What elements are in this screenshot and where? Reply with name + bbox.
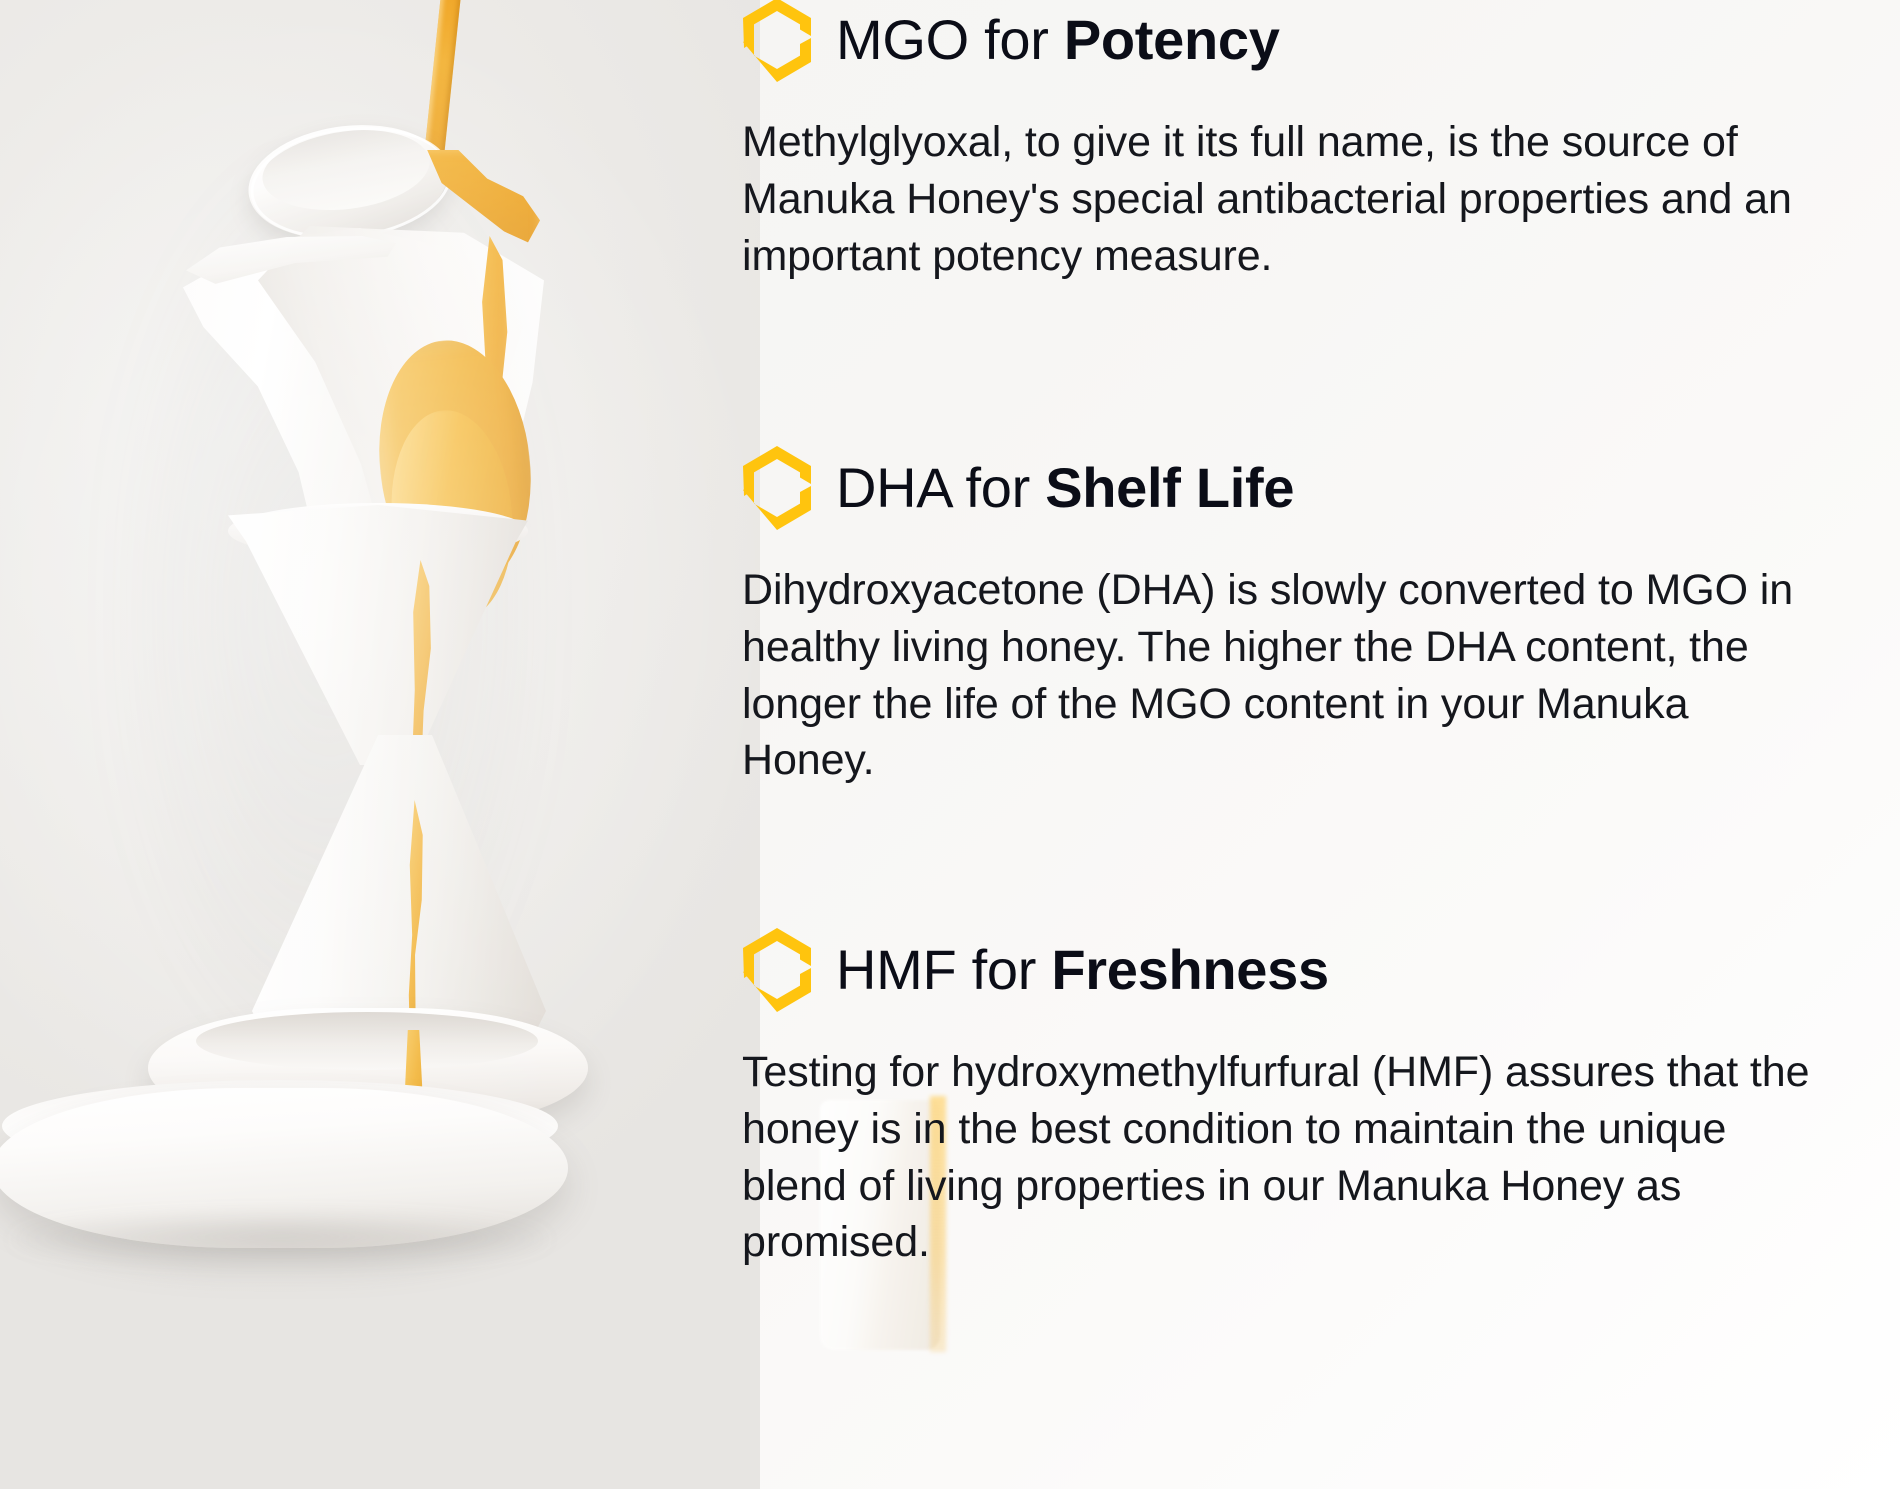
hexagon-outline-icon: [740, 444, 814, 532]
section-hmf-heading-plain: HMF for: [836, 938, 1051, 1001]
hexagon-outline-icon: [740, 0, 814, 84]
section-dha-heading: DHA for Shelf Life: [836, 460, 1294, 516]
section-hmf: HMF for Freshness Testing for hydroxymet…: [740, 922, 1830, 1271]
manuka-honey-photo: [0, 0, 760, 1489]
section-mgo-heading-row: MGO for Potency: [740, 0, 1830, 88]
section-mgo: MGO for Potency Methylglyoxal, to give i…: [740, 0, 1830, 284]
section-hmf-heading-bold: Freshness: [1051, 938, 1328, 1001]
section-hmf-heading-row: HMF for Freshness: [740, 922, 1830, 1018]
section-mgo-heading: MGO for Potency: [836, 12, 1280, 68]
section-hmf-heading: HMF for Freshness: [836, 942, 1329, 998]
photo-vignette: [0, 0, 760, 1489]
section-dha-heading-plain: DHA for: [836, 456, 1045, 519]
section-dha: DHA for Shelf Life Dihydroxyacetone (DHA…: [740, 440, 1830, 789]
section-dha-heading-row: DHA for Shelf Life: [740, 440, 1830, 536]
section-dha-heading-bold: Shelf Life: [1045, 456, 1294, 519]
section-mgo-heading-plain: MGO for: [836, 8, 1064, 71]
section-dha-body: Dihydroxyacetone (DHA) is slowly convert…: [742, 562, 1830, 789]
content-column: MGO for Potency Methylglyoxal, to give i…: [740, 0, 1900, 1489]
hexagon-outline-icon: [740, 926, 814, 1014]
page-root: MGO for Potency Methylglyoxal, to give i…: [0, 0, 1900, 1489]
section-hmf-body: Testing for hydroxymethylfurfural (HMF) …: [742, 1044, 1830, 1271]
section-mgo-heading-bold: Potency: [1064, 8, 1280, 71]
section-mgo-body: Methylglyoxal, to give it its full name,…: [742, 114, 1802, 284]
